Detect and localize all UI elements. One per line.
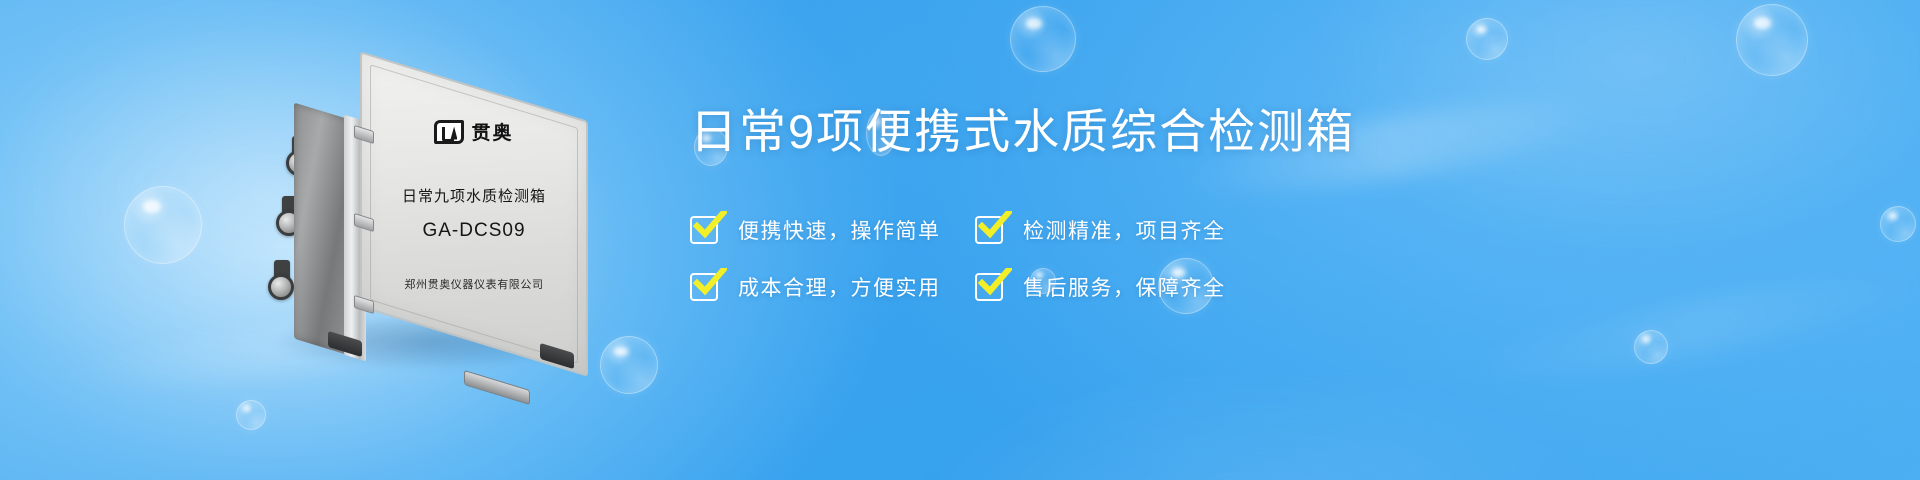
light-sweep-bottom (760, 300, 1760, 480)
page-title: 日常9项便携式水质综合检测箱 (690, 104, 1870, 159)
case-handle (464, 370, 530, 405)
check-mark-icon (693, 268, 727, 298)
case-company-name: 郑州贯奥仪器仪表有限公司 (404, 276, 543, 292)
feature-label: 检测精准，项目齐全 (1023, 215, 1226, 245)
case-brand-name: 贯奥 (471, 118, 513, 145)
product-image: 贯奥 日常九项水质检测箱 GA-DCS09 郑州贯奥仪器仪表有限公司 (268, 84, 608, 384)
bubble-icon (1736, 4, 1808, 76)
bubble-icon (1466, 18, 1508, 60)
feature-item: 便携快速，操作简单 (690, 201, 975, 258)
banner-copy: 日常9项便携式水质综合检测箱 便携快速，操作简单 检测精准，项目齐全 (690, 104, 1870, 315)
check-icon (690, 216, 718, 244)
bubble-icon (236, 400, 266, 430)
feature-item: 售后服务，保障齐全 (975, 258, 1260, 315)
product-banner: 贯奥 日常九项水质检测箱 GA-DCS09 郑州贯奥仪器仪表有限公司 日常9项便… (0, 0, 1920, 480)
feature-item: 成本合理，方便实用 (690, 258, 975, 315)
bubble-icon (1010, 6, 1076, 72)
ga-logo-icon (434, 120, 464, 144)
check-icon (975, 273, 1003, 301)
check-icon (975, 216, 1003, 244)
case-model-cn: 日常九项水质检测箱 (402, 185, 546, 206)
feature-item: 检测精准，项目齐全 (975, 201, 1260, 258)
feature-list: 便携快速，操作简单 检测精准，项目齐全 成本合理，方便实用 (690, 201, 1870, 315)
bubble-icon (124, 186, 202, 264)
caster-wheel (268, 274, 294, 300)
feature-label: 成本合理，方便实用 (738, 272, 941, 302)
check-mark-icon (978, 268, 1012, 298)
bubble-icon (600, 336, 658, 394)
case-model-code: GA-DCS09 (422, 220, 525, 242)
check-mark-icon (693, 211, 727, 241)
check-icon (690, 273, 718, 301)
check-mark-icon (978, 211, 1012, 241)
bubble-icon (1880, 206, 1916, 242)
case-brand-row: 贯奥 (434, 118, 513, 145)
bubble-icon (1634, 330, 1668, 364)
feature-label: 便携快速，操作简单 (738, 215, 941, 245)
case-label-stack: 贯奥 日常九项水质检测箱 GA-DCS09 郑州贯奥仪器仪表有限公司 (362, 118, 586, 292)
feature-label: 售后服务，保障齐全 (1023, 272, 1226, 302)
